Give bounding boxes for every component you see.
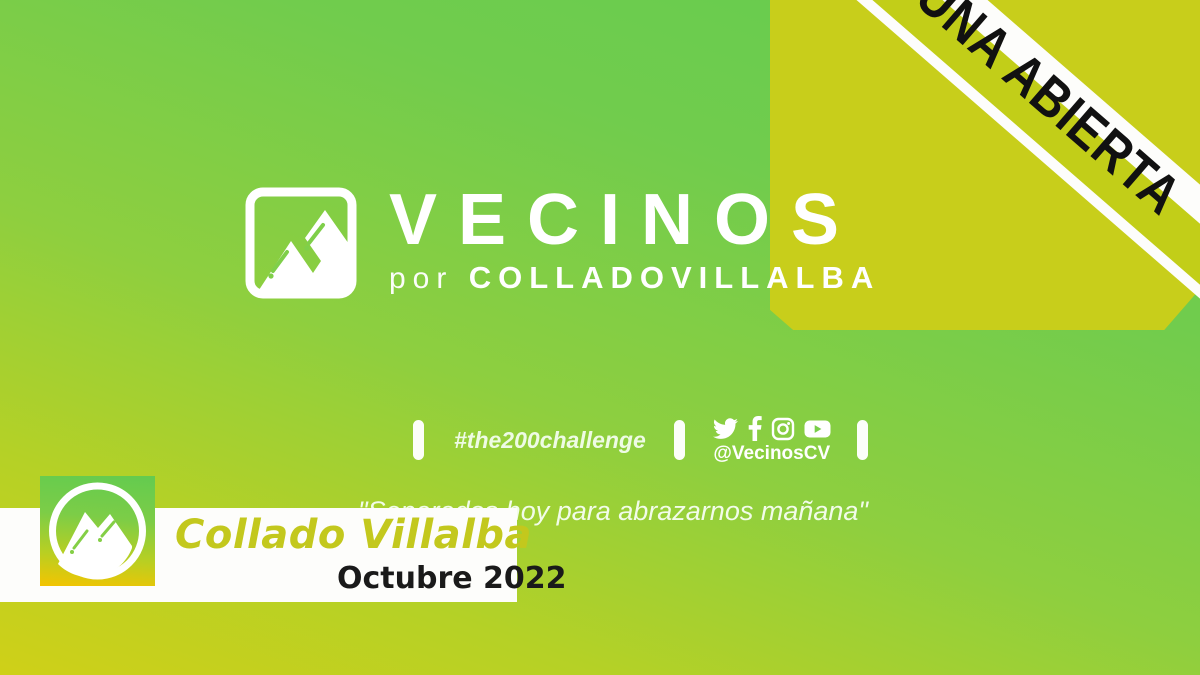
divider-pill-middle — [674, 420, 685, 460]
youtube-icon[interactable] — [804, 419, 831, 439]
presentation-slide: TRIBUNA ABIERTA VECINOS por COLLADOVILLA… — [0, 0, 1200, 675]
footer-city-label: Collado Villalba — [175, 512, 532, 558]
brand-name: VECINOS — [389, 183, 880, 257]
brand-subtitle: por COLLADOVILLALBA — [389, 261, 880, 301]
instagram-icon[interactable] — [771, 417, 795, 441]
divider-pill-right — [857, 420, 868, 460]
social-strip: #the200challenge — [413, 412, 868, 468]
facebook-icon[interactable] — [747, 416, 762, 441]
divider-pill-left — [413, 420, 424, 460]
footer-date-label: Octubre 2022 — [337, 561, 567, 596]
social-handle: @VecinosCV — [713, 443, 830, 465]
mountain-frame-icon — [243, 185, 359, 301]
social-accounts: @VecinosCV — [713, 416, 831, 465]
twitter-icon[interactable] — [713, 418, 738, 440]
brand-text-block: VECINOS por COLLADOVILLALBA — [389, 183, 880, 301]
brand-city: COLLADOVILLALBA — [469, 260, 881, 295]
social-icon-row — [713, 416, 831, 442]
campaign-hashtag: #the200challenge — [454, 427, 646, 454]
brand-lockup: VECINOS por COLLADOVILLALBA — [243, 183, 880, 301]
mountain-circle-badge-icon — [40, 476, 155, 586]
brand-prefix: por — [389, 262, 453, 295]
